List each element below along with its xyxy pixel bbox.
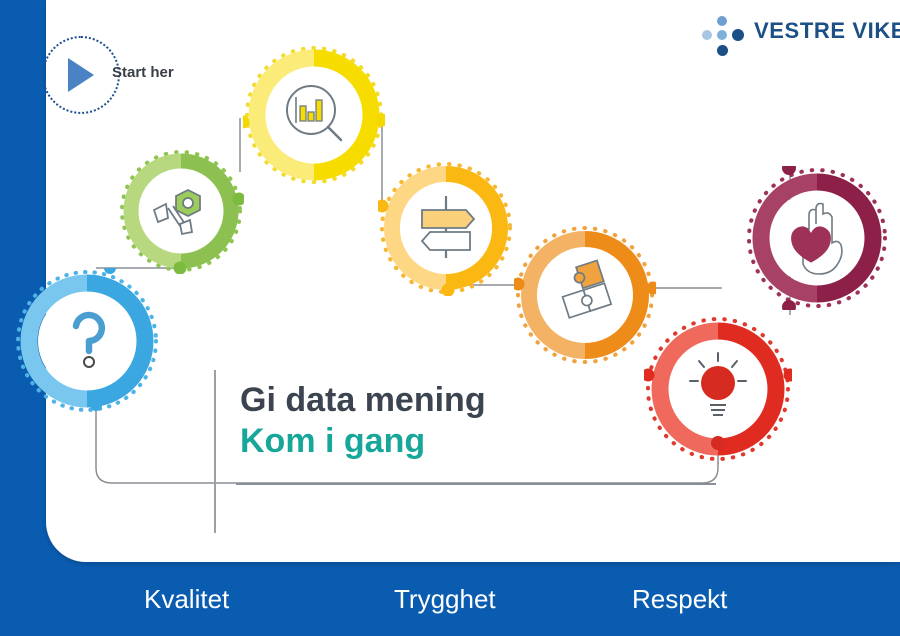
step-node-analyse[interactable] <box>243 44 385 186</box>
step-node-assemble[interactable] <box>514 224 656 366</box>
logo-dot-bottom-icon <box>717 45 728 56</box>
logo-dot-right-icon <box>732 29 744 41</box>
step-node-tools[interactable] <box>118 148 244 274</box>
logo-dot-center-icon <box>717 30 727 40</box>
value-trygghet: Trygghet <box>394 562 496 636</box>
step-direction-graphic <box>378 160 514 296</box>
connector-dot-bottom <box>782 300 796 310</box>
logo-dot-top-icon <box>717 16 727 26</box>
connector-dot-bottom <box>174 262 187 275</box>
infographic-canvas: VESTRE VIKEN Start her <box>0 0 900 636</box>
connector-dot-bottom <box>442 284 455 297</box>
logo-dot-mark-icon <box>700 16 750 56</box>
step-question-graphic <box>14 268 160 414</box>
step-node-idea[interactable] <box>644 315 792 463</box>
headline-divider <box>214 370 216 533</box>
logo-dot-left-icon <box>702 30 712 40</box>
connector-dot-bottom <box>90 399 102 411</box>
step-care-graphic <box>745 166 889 310</box>
headline-block: Gi data mening Kom i gang <box>240 380 486 463</box>
step-node-direction[interactable] <box>378 160 514 296</box>
play-triangle-icon <box>68 58 94 92</box>
step-node-question[interactable] <box>14 268 160 414</box>
step-assemble-graphic <box>514 224 656 366</box>
value-kvalitet: Kvalitet <box>144 562 229 636</box>
start-here-badge[interactable] <box>42 36 120 114</box>
step-analyse-graphic <box>243 44 385 186</box>
step-tools-graphic <box>118 148 244 274</box>
connector-dot-bottom <box>711 436 725 450</box>
logo-wordmark: VESTRE VIKEN <box>754 18 900 44</box>
headline-secondary: Kom i gang <box>240 421 486 462</box>
start-here-label: Start her <box>112 64 174 81</box>
vestre-viken-logo: VESTRE VIKEN <box>700 12 890 56</box>
step-node-care[interactable] <box>745 166 889 310</box>
headline-underline <box>236 483 716 485</box>
values-bar: Kvalitet Trygghet Respekt <box>0 562 900 636</box>
value-respekt: Respekt <box>632 562 727 636</box>
headline-primary: Gi data mening <box>240 380 486 421</box>
connector-dot-top <box>782 166 796 175</box>
step-idea-graphic <box>644 315 792 463</box>
